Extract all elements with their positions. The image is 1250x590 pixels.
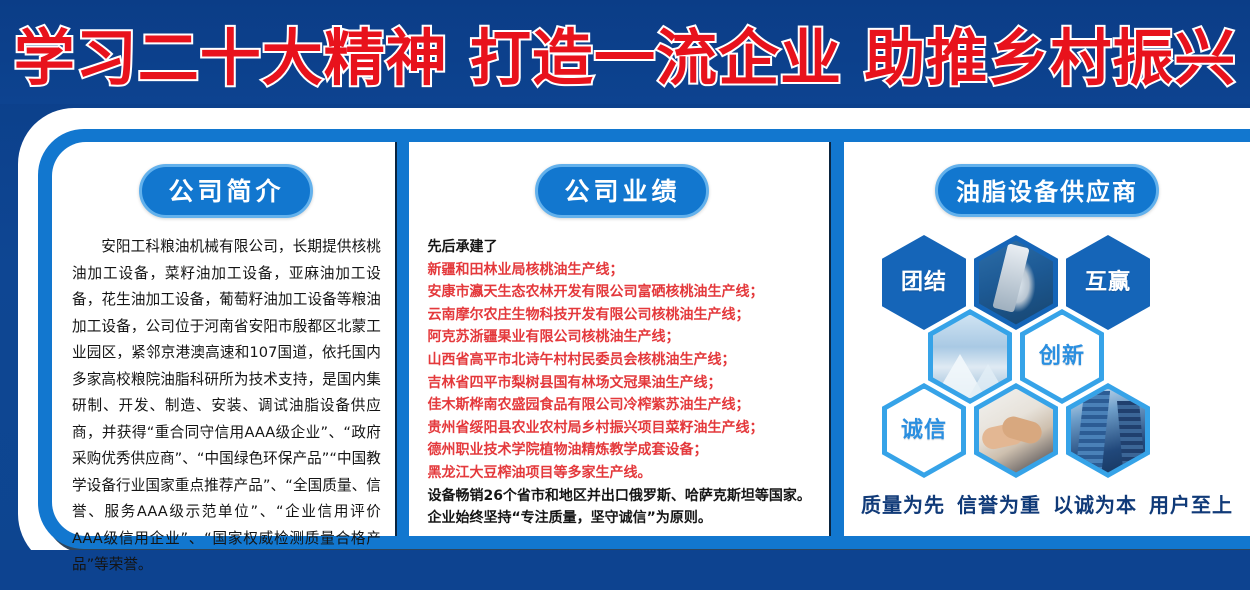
hexagon-cluster: 团结 互赢: [854, 231, 1240, 491]
right-badge-wrap: 油脂设备供应商: [854, 164, 1240, 217]
panel-columns: 公司简介 安阳工科粮油机械有限公司，长期提供核桃油加工设备，菜籽油加工设备，亚麻…: [52, 142, 1250, 536]
panel-company-performance: 公司业绩 先后承建了 新疆和田林业局核桃油生产线；安康市瀛天生态农林开发有限公司…: [409, 142, 831, 536]
performance-project-item: 云南摩尔农庄生物科技开发有限公司核桃油生产线；: [427, 304, 817, 327]
left-panel-badge: 公司简介: [139, 164, 313, 218]
tagline-phrase: 用户至上: [1149, 493, 1233, 517]
mountain-photo: [933, 315, 1007, 399]
header-banner: 学习二十大精神 打造一流企业 助推乡村振兴: [0, 0, 1250, 104]
performance-project-item: 吉林省四平市梨树县国有林场文冠果油生产线；: [427, 372, 817, 395]
supplier-tagline: 质量为先信誉为重以诚为本用户至上: [844, 489, 1250, 518]
performance-footer-line: 设备畅销26个省市和地区并出口俄罗斯、哈萨克斯坦等国家。: [427, 485, 817, 508]
mountain-icon: [933, 315, 1007, 399]
performance-project-item: 佳木斯桦南农盛园食品有限公司冷榨紫苏油生产线；: [427, 394, 817, 417]
header-title: 学习二十大精神 打造一流企业 助推乡村振兴: [14, 8, 1236, 97]
hexagon-innovation[interactable]: 创新: [1020, 309, 1104, 404]
handshake-icon: [979, 389, 1053, 473]
tagline-phrase: 信誉为重: [957, 493, 1041, 517]
hexagon-ship-image[interactable]: [974, 235, 1058, 330]
performance-project-item: 黑龙江大豆榨油项目等多家生产线。: [427, 462, 817, 485]
left-badge-wrap: 公司简介: [72, 164, 381, 218]
ship-deck-shape: [992, 243, 1029, 312]
mid-badge-wrap: 公司业绩: [427, 164, 817, 218]
performance-lead: 先后承建了: [427, 236, 817, 259]
hexagon-handshake-image[interactable]: [974, 383, 1058, 478]
hexagon-integrity[interactable]: 诚信: [882, 383, 966, 478]
tower-shape-2: [1117, 401, 1145, 469]
performance-project-item: 安康市瀛天生态农林开发有限公司富硒核桃油生产线；: [427, 281, 817, 304]
building-photo: [1071, 389, 1145, 473]
company-profile-text: 安阳工科粮油机械有限公司，长期提供核桃油加工设备，菜籽油加工设备，亚麻油加工设备…: [72, 234, 381, 579]
hexagon-unity[interactable]: 团结: [882, 235, 966, 330]
hexagon-inner: 创新: [1025, 315, 1099, 399]
tagline-phrase: 以诚为本: [1053, 493, 1137, 517]
hexagon-label: 团结: [901, 272, 947, 294]
ship-icon: [979, 241, 1053, 325]
performance-project-item: 德州职业技术学院植物油精炼教学成套设备；: [427, 439, 817, 462]
ship-photo: [979, 241, 1053, 325]
hexagon-label: 互赢: [1085, 272, 1131, 294]
hexagon-building-image[interactable]: [1066, 383, 1150, 478]
right-panel-badge: 油脂设备供应商: [935, 164, 1159, 217]
mid-panel-badge: 公司业绩: [535, 164, 709, 218]
poster-root: 学习二十大精神 打造一流企业 助推乡村振兴 公司简介 安阳工科粮油机械有限公司，…: [0, 0, 1250, 590]
performance-project-item: 山西省高平市北诗午村村民委员会核桃油生产线；: [427, 349, 817, 372]
hexagon-mutual-win[interactable]: 互赢: [1066, 235, 1150, 330]
performance-project-item: 阿克苏浙疆果业有限公司核桃油生产线；: [427, 326, 817, 349]
column-divider-1: [397, 142, 410, 536]
building-icon: [1071, 389, 1145, 473]
performance-body: 先后承建了 新疆和田林业局核桃油生产线；安康市瀛天生态农林开发有限公司富硒核桃油…: [427, 236, 817, 530]
tower-shape-1: [1076, 391, 1110, 469]
performance-project-item: 贵州省绥阳县农业农村局乡村振兴项目菜籽油生产线；: [427, 417, 817, 440]
performance-footer-line: 企业始终坚持“专注质量，坚守诚信”为原则。: [427, 507, 817, 530]
panel-supplier: 油脂设备供应商 团结 互赢: [844, 142, 1250, 536]
performance-project-item: 新疆和田林业局核桃油生产线；: [427, 259, 817, 282]
hexagon-label: 诚信: [901, 420, 947, 442]
hexagon-inner: 诚信: [887, 389, 961, 473]
column-divider-2: [831, 142, 844, 536]
tagline-phrase: 质量为先: [861, 493, 945, 517]
handshake-photo: [979, 389, 1053, 473]
performance-project-list: 新疆和田林业局核桃油生产线；安康市瀛天生态农林开发有限公司富硒核桃油生产线；云南…: [427, 259, 817, 485]
hexagon-label: 创新: [1039, 346, 1085, 368]
performance-footer: 设备畅销26个省市和地区并出口俄罗斯、哈萨克斯坦等国家。企业始终坚持“专注质量，…: [427, 485, 817, 530]
panel-company-profile: 公司简介 安阳工科粮油机械有限公司，长期提供核桃油加工设备，菜籽油加工设备，亚麻…: [52, 142, 397, 536]
hexagon-mountain-image[interactable]: [928, 309, 1012, 404]
